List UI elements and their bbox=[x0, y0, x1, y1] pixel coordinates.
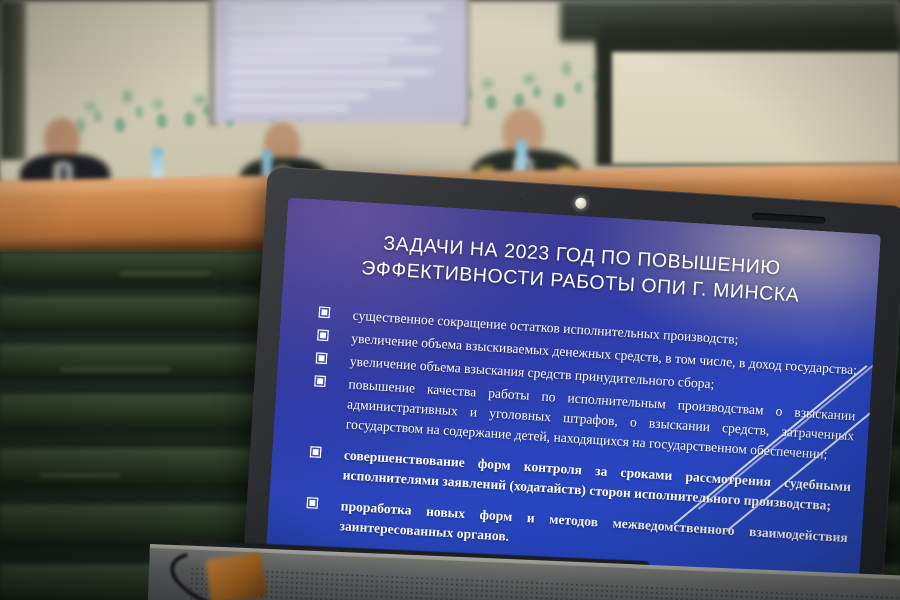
powerpoint-slide[interactable]: ЗАДАЧИ НА 2023 ГОД ПО ПОВЫШЕНИЮ ЭФФЕКТИВ… bbox=[266, 197, 881, 586]
hp-laptop: ЗАДАЧИ НА 2023 ГОД ПО ПОВЫШЕНИЮ ЭФФЕКТИВ… bbox=[0, 0, 900, 600]
screenshot-root: ЗАДАЧИ НА 2023 ГОД ПО ПОВЫШЕНИЮ ЭФФЕКТИВ… bbox=[0, 0, 900, 600]
screen-vignette bbox=[266, 197, 881, 586]
laptop-lid: ЗАДАЧИ НА 2023 ГОД ПО ПОВЫШЕНИЮ ЭФФЕКТИВ… bbox=[242, 166, 900, 600]
laptop-screen[interactable]: ЗАДАЧИ НА 2023 ГОД ПО ПОВЫШЕНИЮ ЭФФЕКТИВ… bbox=[266, 197, 881, 586]
desk-edge-highlight bbox=[205, 552, 267, 600]
